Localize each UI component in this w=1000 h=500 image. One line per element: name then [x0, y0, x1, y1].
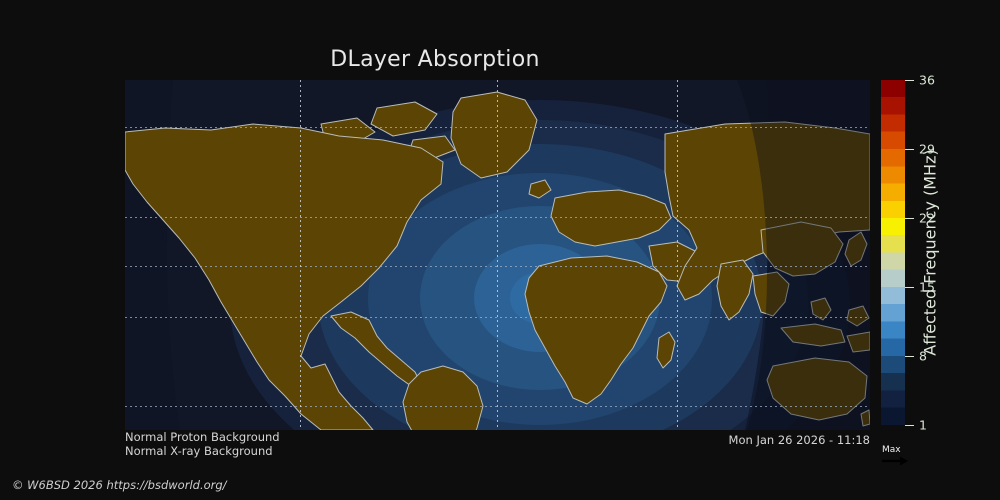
timestamp: Mon Jan 26 2026 - 11:18	[729, 433, 870, 447]
world-map[interactable]	[125, 80, 870, 430]
colorbar-axis-label: Affected Frequency (MHz)	[918, 80, 942, 425]
colorbar-tick-mark-36	[905, 80, 914, 81]
colorbar-tick-mark-1	[905, 425, 914, 426]
colorbar-tick-mark-22	[905, 218, 914, 219]
chart-canvas: DLayer Absorption	[0, 0, 1000, 500]
colorbar-tick-mark-15	[905, 287, 914, 288]
proton-background-note: Normal Proton Background	[125, 430, 280, 444]
gridline-lon-0	[497, 80, 498, 430]
gridline-lon-90e	[677, 80, 678, 430]
max-arrow-icon	[882, 456, 908, 466]
xray-background-note: Normal X-ray Background	[125, 444, 273, 458]
colorbar-tick-mark-29	[905, 149, 914, 150]
colorbar-tick-mark-8	[905, 356, 914, 357]
colorbar-max-marker: Max	[882, 446, 922, 466]
page-title: DLayer Absorption	[0, 47, 870, 72]
copyright-notice: © W6BSD 2026 https://bsdworld.org/	[12, 478, 227, 492]
gridline-lon-90w	[300, 80, 301, 430]
colorbar-max-label: Max	[882, 445, 901, 455]
